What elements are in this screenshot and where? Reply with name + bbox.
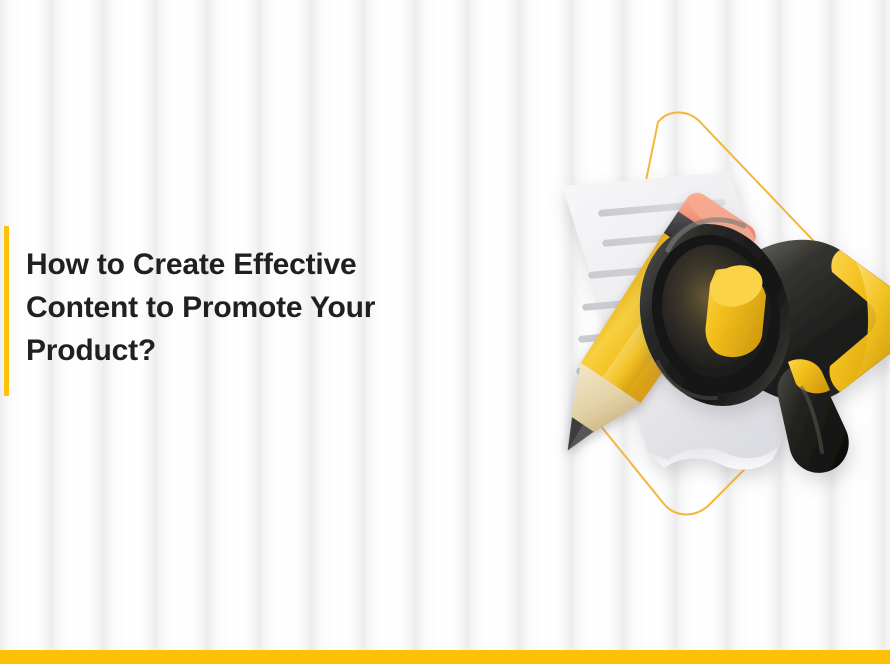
page-title-line-2: Content to Promote Your xyxy=(26,286,456,329)
article-banner: How to Create Effective Content to Promo… xyxy=(0,0,890,664)
page-title-line-1: How to Create Effective xyxy=(26,243,456,286)
page-title-line-3: Product? xyxy=(26,329,456,372)
left-accent-bar xyxy=(4,226,9,396)
illustration xyxy=(540,100,890,520)
bottom-accent-strip xyxy=(0,650,890,664)
page-title: How to Create Effective Content to Promo… xyxy=(26,243,456,372)
